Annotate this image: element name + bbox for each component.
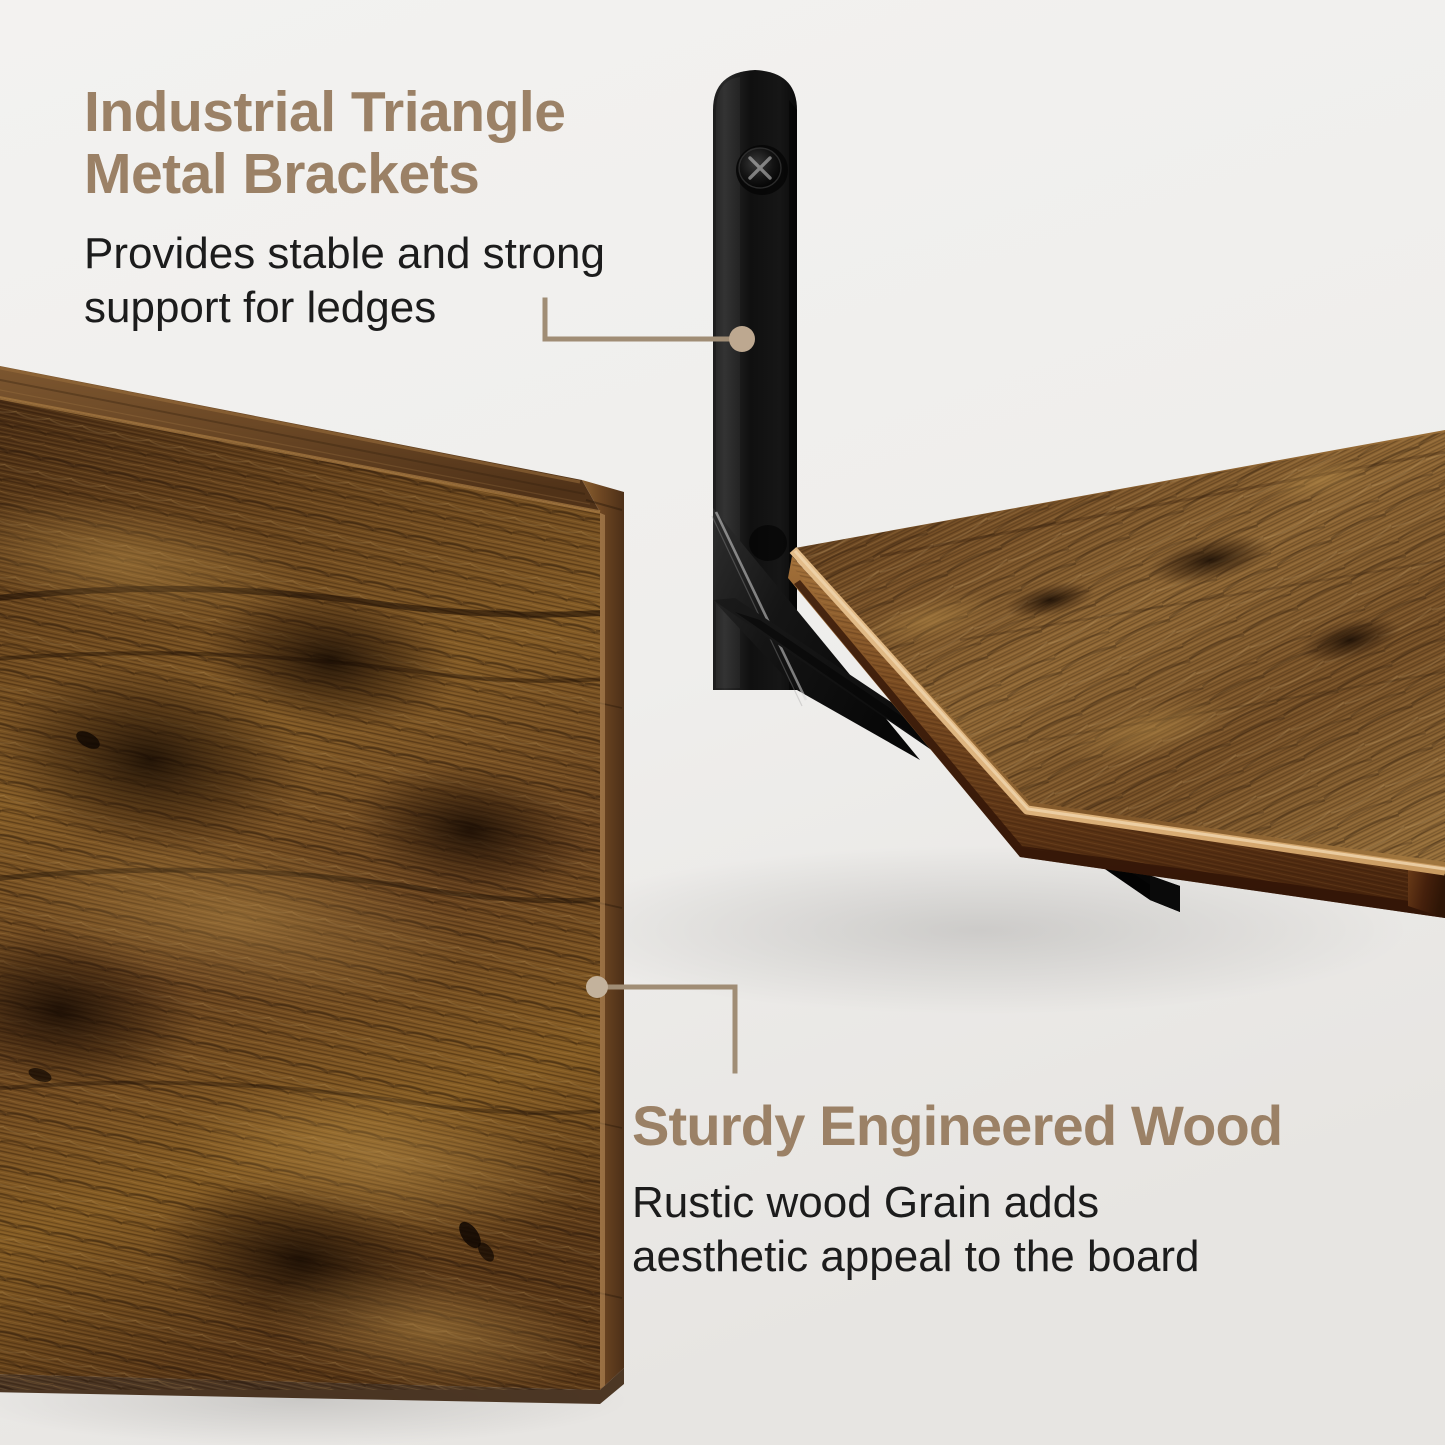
callout-wood-subline: Rustic wood Grain adds aesthetic appeal …	[632, 1176, 1422, 1283]
callout-brackets-headline: Industrial Triangle Metal Brackets	[84, 82, 724, 205]
engineered-wood-board-left	[0, 364, 640, 1413]
product-infographic: Industrial Triangle Metal Brackets Provi…	[0, 0, 1445, 1445]
callout-wood-headline: Sturdy Engineered Wood	[632, 1096, 1422, 1156]
callout-sturdy-engineered-wood: Sturdy Engineered Wood Rustic wood Grain…	[632, 1096, 1422, 1284]
callout-industrial-triangle-metal-brackets: Industrial Triangle Metal Brackets Provi…	[84, 82, 724, 334]
callout-brackets-subline: Provides stable and strong support for l…	[84, 227, 724, 334]
bracket-vertical-rim	[789, 100, 797, 690]
bracket-lower-screw-hole	[749, 525, 787, 561]
phillips-screw	[736, 145, 788, 195]
